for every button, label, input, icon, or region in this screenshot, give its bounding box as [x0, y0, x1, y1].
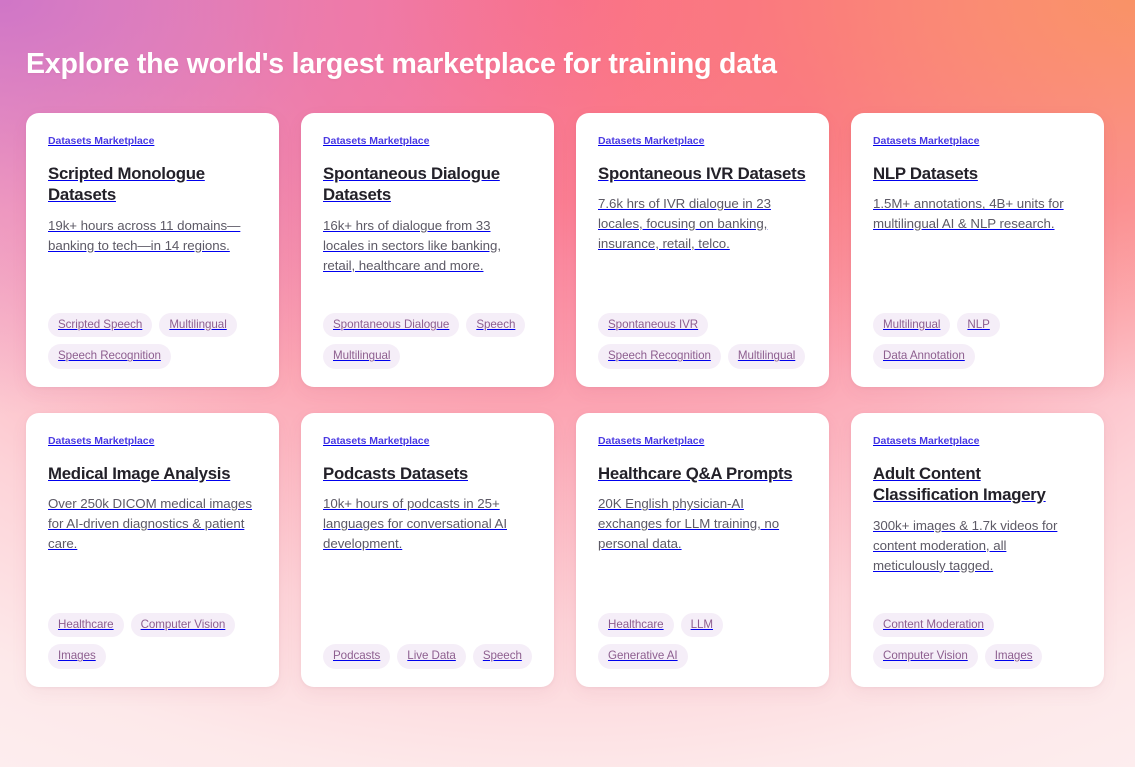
card-description: 19k+ hours across 11 domains—banking to …: [48, 216, 257, 255]
dataset-card[interactable]: Datasets Marketplace Healthcare Q&A Prom…: [576, 413, 829, 687]
card-tag[interactable]: Content Moderation: [873, 613, 994, 638]
card-description: 20K English physician-AI exchanges for L…: [598, 494, 807, 553]
dataset-card[interactable]: Datasets Marketplace NLP Datasets 1.5M+ …: [851, 113, 1104, 387]
card-description: 16k+ hrs of dialogue from 33 locales in …: [323, 216, 532, 275]
card-eyebrow: Datasets Marketplace: [48, 135, 257, 148]
card-tag-list: HealthcareLLMGenerative AI: [598, 613, 807, 669]
card-tag[interactable]: Generative AI: [598, 644, 688, 669]
card-tag-list: Content ModerationComputer VisionImages: [873, 613, 1082, 669]
card-description: 10k+ hours of podcasts in 25+ languages …: [323, 494, 532, 553]
card-spacer: [48, 553, 257, 612]
card-tag[interactable]: Computer Vision: [131, 613, 236, 638]
card-description: 300k+ images & 1.7k videos for content m…: [873, 516, 1082, 575]
card-tag[interactable]: Multilingual: [159, 313, 236, 338]
dataset-card[interactable]: Datasets Marketplace Spontaneous IVR Dat…: [576, 113, 829, 387]
card-tag[interactable]: Data Annotation: [873, 344, 975, 369]
card-tag[interactable]: Spontaneous Dialogue: [323, 313, 459, 338]
card-spacer: [873, 575, 1082, 613]
card-title: Adult Content Classification Imagery: [873, 463, 1082, 507]
card-title: Medical Image Analysis: [48, 463, 257, 485]
card-tag[interactable]: Podcasts: [323, 644, 390, 669]
page-title: Explore the world's largest marketplace …: [26, 46, 777, 83]
card-spacer: [323, 275, 532, 313]
card-eyebrow: Datasets Marketplace: [873, 435, 1082, 448]
dataset-card-grid: Datasets Marketplace Scripted Monologue …: [26, 113, 1109, 687]
card-tag[interactable]: Healthcare: [48, 613, 124, 638]
card-title: NLP Datasets: [873, 163, 1082, 185]
dataset-card[interactable]: Datasets Marketplace Podcasts Datasets 1…: [301, 413, 554, 687]
card-tag[interactable]: Computer Vision: [873, 644, 978, 669]
card-tag[interactable]: Spontaneous IVR: [598, 313, 708, 338]
card-title: Healthcare Q&A Prompts: [598, 463, 807, 485]
marketplace-page: Explore the world's largest marketplace …: [0, 0, 1135, 767]
card-tag[interactable]: Multilingual: [728, 344, 805, 369]
card-tag-list: PodcastsLive DataSpeech: [323, 644, 532, 669]
card-tag[interactable]: Healthcare: [598, 613, 674, 638]
card-tag-list: Scripted SpeechMultilingualSpeech Recogn…: [48, 313, 257, 369]
card-title: Podcasts Datasets: [323, 463, 532, 485]
card-tag[interactable]: Images: [48, 644, 106, 669]
card-eyebrow: Datasets Marketplace: [323, 435, 532, 448]
card-spacer: [323, 553, 532, 644]
card-title: Spontaneous Dialogue Datasets: [323, 163, 532, 207]
card-tag-list: HealthcareComputer VisionImages: [48, 613, 257, 669]
card-title: Spontaneous IVR Datasets: [598, 163, 807, 185]
card-tag-list: MultilingualNLPData Annotation: [873, 313, 1082, 369]
dataset-card[interactable]: Datasets Marketplace Scripted Monologue …: [26, 113, 279, 387]
card-spacer: [873, 234, 1082, 313]
card-eyebrow: Datasets Marketplace: [873, 135, 1082, 148]
card-tag[interactable]: NLP: [957, 313, 999, 338]
card-eyebrow: Datasets Marketplace: [598, 135, 807, 148]
card-eyebrow: Datasets Marketplace: [48, 435, 257, 448]
card-tag[interactable]: Speech Recognition: [598, 344, 721, 369]
card-spacer: [48, 256, 257, 313]
card-title: Scripted Monologue Datasets: [48, 163, 257, 207]
dataset-card[interactable]: Datasets Marketplace Medical Image Analy…: [26, 413, 279, 687]
card-tag-list: Spontaneous IVRSpeech RecognitionMultili…: [598, 313, 807, 369]
card-tag[interactable]: Scripted Speech: [48, 313, 152, 338]
card-tag[interactable]: Images: [985, 644, 1043, 669]
card-tag-list: Spontaneous DialogueSpeechMultilingual: [323, 313, 532, 369]
card-tag[interactable]: Multilingual: [323, 344, 400, 369]
card-tag[interactable]: Live Data: [397, 644, 466, 669]
card-tag[interactable]: LLM: [681, 613, 723, 638]
dataset-card[interactable]: Datasets Marketplace Adult Content Class…: [851, 413, 1104, 687]
card-tag[interactable]: Speech: [473, 644, 532, 669]
dataset-card[interactable]: Datasets Marketplace Spontaneous Dialogu…: [301, 113, 554, 387]
card-description: 7.6k hrs of IVR dialogue in 23 locales, …: [598, 194, 807, 253]
card-description: Over 250k DICOM medical images for AI-dr…: [48, 494, 257, 553]
card-spacer: [598, 253, 807, 312]
card-tag[interactable]: Speech Recognition: [48, 344, 171, 369]
card-description: 1.5M+ annotations, 4B+ units for multili…: [873, 194, 1082, 233]
card-eyebrow: Datasets Marketplace: [598, 435, 807, 448]
card-eyebrow: Datasets Marketplace: [323, 135, 532, 148]
card-tag[interactable]: Speech: [466, 313, 525, 338]
card-spacer: [598, 553, 807, 612]
card-tag[interactable]: Multilingual: [873, 313, 950, 338]
